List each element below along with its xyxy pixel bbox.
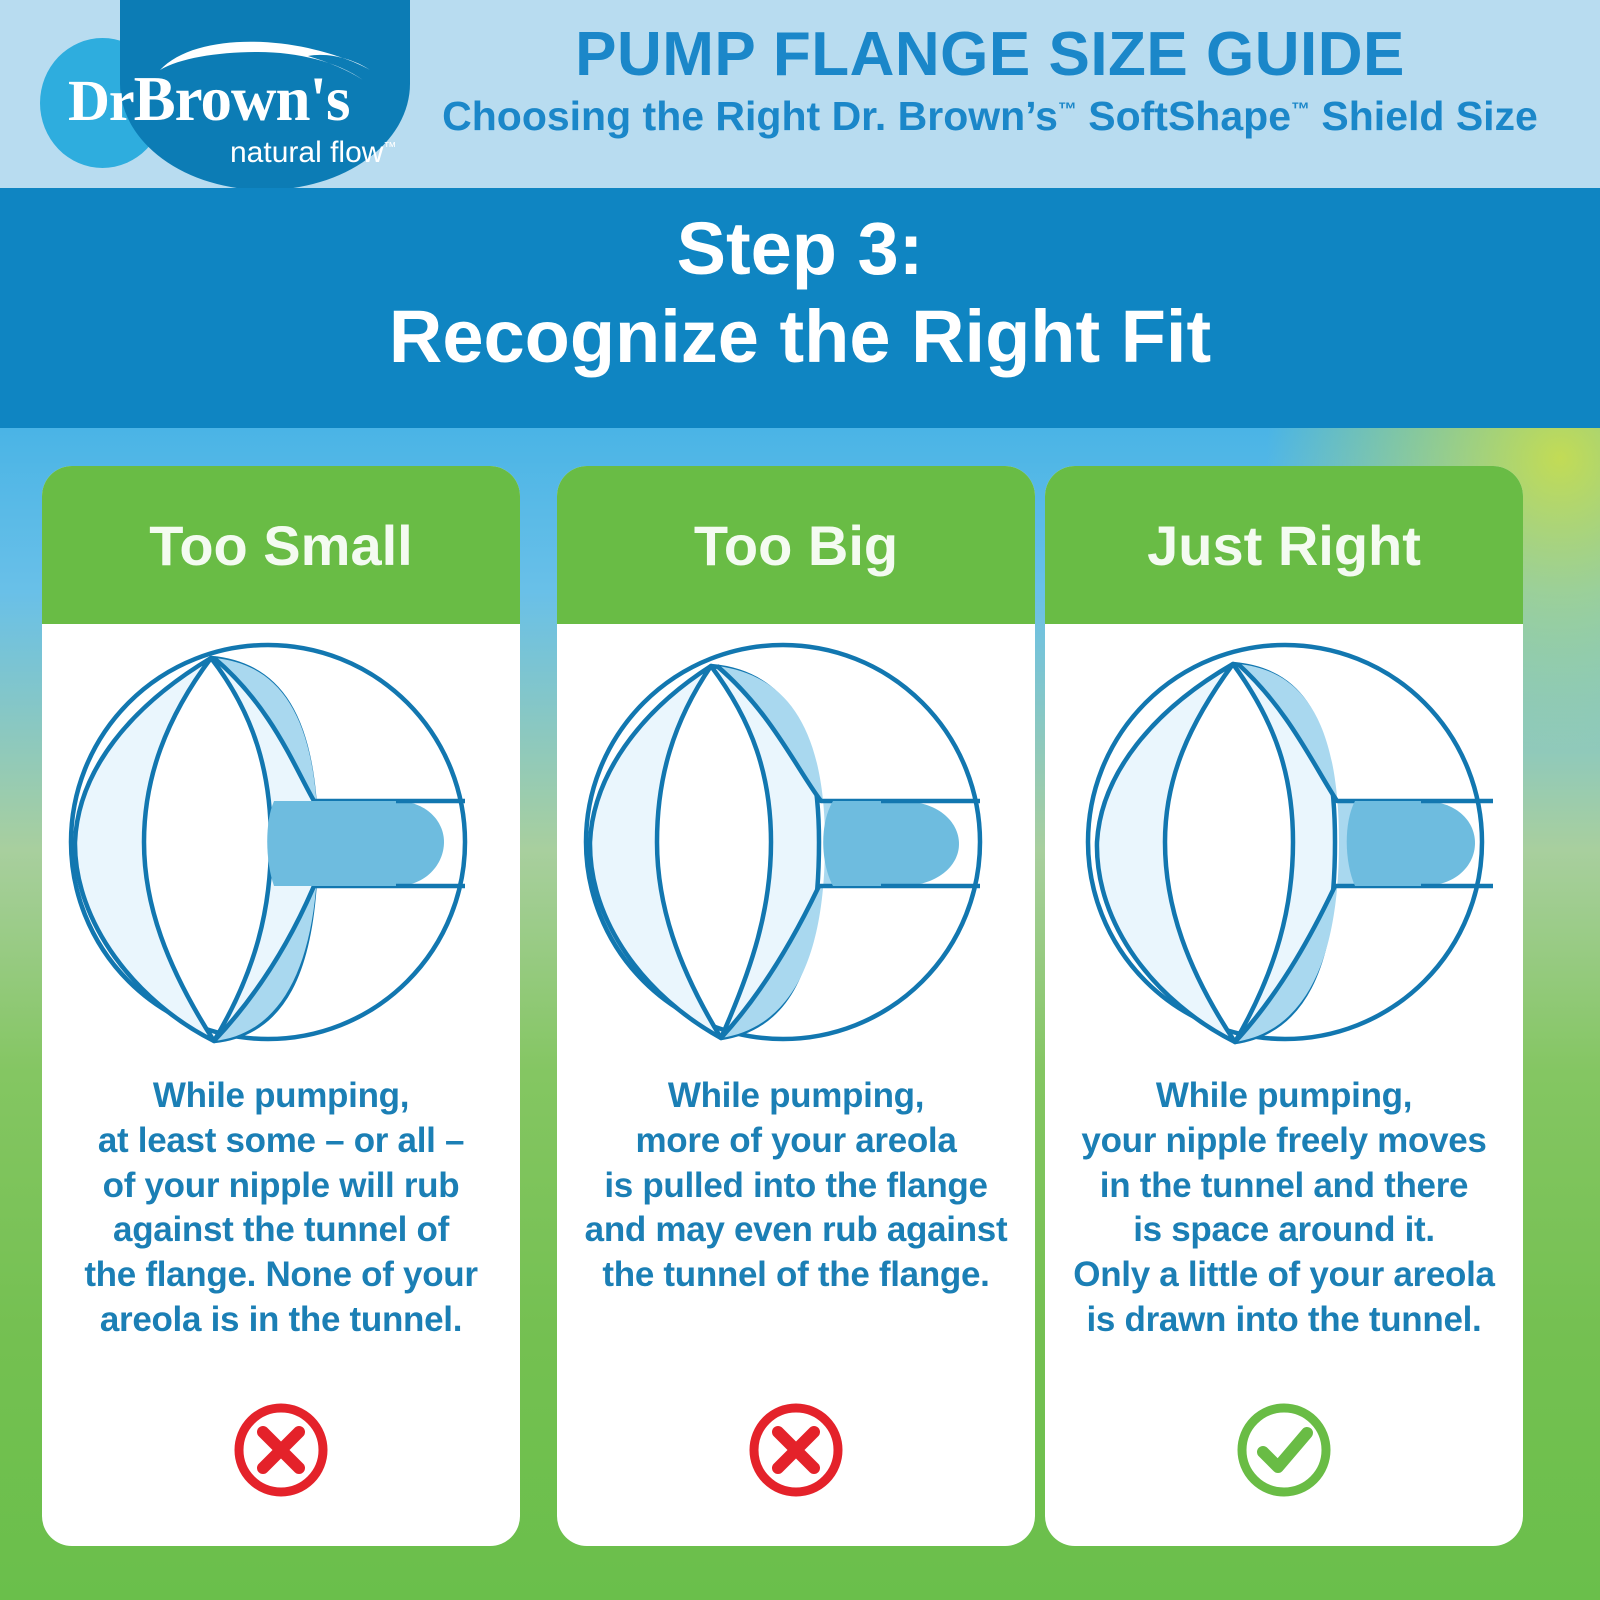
logo-wordmark-browns: Brown's xyxy=(134,64,350,134)
flange-fit-diagram-too-small xyxy=(66,636,496,1048)
header-text-group: PUMP FLANGE SIZE GUIDE Choosing the Righ… xyxy=(395,22,1585,140)
card-too-small: Too Small xyxy=(42,466,520,1546)
logo-wordmark: DrBrown's xyxy=(68,68,418,131)
infographic-page: DrBrown's natural flow™ PUMP FLANGE SIZE… xyxy=(0,0,1600,1600)
subtitle-tm-1: ™ xyxy=(1058,99,1077,120)
page-subtitle: Choosing the Right Dr. Brown’s™ SoftShap… xyxy=(395,93,1585,140)
card-header-just-right: Just Right xyxy=(1045,466,1523,624)
card-title: Too Big xyxy=(694,513,898,578)
logo-tagline-tm: ™ xyxy=(383,139,396,154)
logo-tagline: natural flow™ xyxy=(230,136,396,170)
page-title: PUMP FLANGE SIZE GUIDE xyxy=(395,22,1585,87)
subtitle-tm-2: ™ xyxy=(1291,99,1310,120)
card-title: Too Small xyxy=(149,513,412,578)
card-too-big: Too Big xyxy=(557,466,1035,1546)
card-just-right: Just Right xyxy=(1045,466,1523,1546)
card-header-too-small: Too Small xyxy=(42,466,520,624)
circle-check-icon xyxy=(1234,1400,1334,1500)
logo-wordmark-dr: Dr xyxy=(68,68,134,133)
dr-browns-logo: DrBrown's natural flow™ xyxy=(30,0,430,188)
card-description: While pumping,at least some – or all –of… xyxy=(52,1074,510,1343)
flange-fit-diagram-too-big xyxy=(581,636,1011,1048)
card-description: While pumping,more of your areolais pull… xyxy=(567,1074,1025,1298)
comparison-card-row: Too Small xyxy=(0,428,1600,1600)
content-area: Too Small xyxy=(0,428,1600,1600)
step-title-label: Recognize the Right Fit xyxy=(0,300,1600,374)
step-banner: Step 3: Recognize the Right Fit xyxy=(0,188,1600,428)
card-title: Just Right xyxy=(1147,513,1421,578)
card-header-too-big: Too Big xyxy=(557,466,1035,624)
card-body-too-small: While pumping,at least some – or all –of… xyxy=(42,624,520,1546)
circle-x-icon xyxy=(746,1400,846,1500)
circle-x-icon xyxy=(231,1400,331,1500)
card-description: While pumping,your nipple freely movesin… xyxy=(1055,1074,1513,1343)
step-number-label: Step 3: xyxy=(0,212,1600,286)
flange-fit-diagram-just-right xyxy=(1083,636,1513,1048)
card-body-too-big: While pumping,more of your areolais pull… xyxy=(557,624,1035,1546)
card-body-just-right: While pumping,your nipple freely movesin… xyxy=(1045,624,1523,1546)
brand-header-band: DrBrown's natural flow™ PUMP FLANGE SIZE… xyxy=(0,0,1600,188)
